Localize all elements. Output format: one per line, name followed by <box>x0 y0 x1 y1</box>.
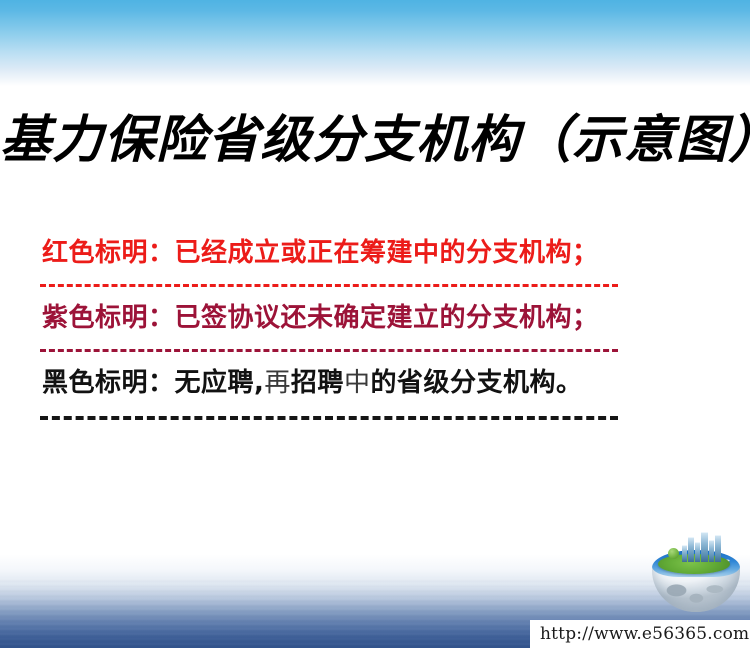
legend-separator-black <box>40 416 618 420</box>
legend-desc-black-5: 的省级分支机构。 <box>370 368 582 398</box>
legend-row-black: 黑色标明：无应聘,再招聘中的省级分支机构。 <box>42 366 708 400</box>
globe-skyline <box>682 532 722 562</box>
building-1 <box>682 545 687 562</box>
sky-gradient-band <box>0 0 750 86</box>
legend-separator-red <box>40 284 618 287</box>
building-3 <box>695 542 700 562</box>
legend-desc-black-2: 再 <box>264 368 291 398</box>
legend-label-black: 黑色标明： <box>42 368 175 398</box>
legend-row-purple: 紫色标明：已签协议还未确定建立的分支机构； <box>42 301 708 335</box>
building-5 <box>709 540 714 562</box>
building-2 <box>688 537 694 562</box>
globe-tree-icon <box>668 548 679 559</box>
legend-separator-purple <box>40 349 618 352</box>
slide-title: 基力保险省级分支机构（示意图） <box>0 98 750 172</box>
building-4 <box>701 532 708 562</box>
globe-map-etching <box>662 580 728 606</box>
legend-desc-black-1: 无应聘, <box>175 368 265 398</box>
watermark-url-text: http://www.e56365.com <box>540 624 749 644</box>
legend-desc-purple: 已签协议还未确定建立的分支机构； <box>175 303 599 333</box>
legend-desc-red: 已经成立或正在筹建中的分支机构； <box>175 238 599 268</box>
slide-canvas: 基力保险省级分支机构（示意图） 红色标明：已经成立或正在筹建中的分支机构； 紫色… <box>0 0 750 648</box>
globe-city-logo <box>648 524 744 616</box>
building-6 <box>715 535 721 562</box>
watermark-url-box: http://www.e56365.com <box>530 620 750 648</box>
legend-desc-black-4: 中 <box>344 368 371 398</box>
legend-label-red: 红色标明： <box>42 238 175 268</box>
legend-label-purple: 紫色标明： <box>42 303 175 333</box>
legend-desc-black-3: 招聘 <box>291 368 344 398</box>
legend-block: 红色标明：已经成立或正在筹建中的分支机构； 紫色标明：已签协议还未确定建立的分支… <box>42 236 708 420</box>
legend-row-red: 红色标明：已经成立或正在筹建中的分支机构； <box>42 236 708 270</box>
